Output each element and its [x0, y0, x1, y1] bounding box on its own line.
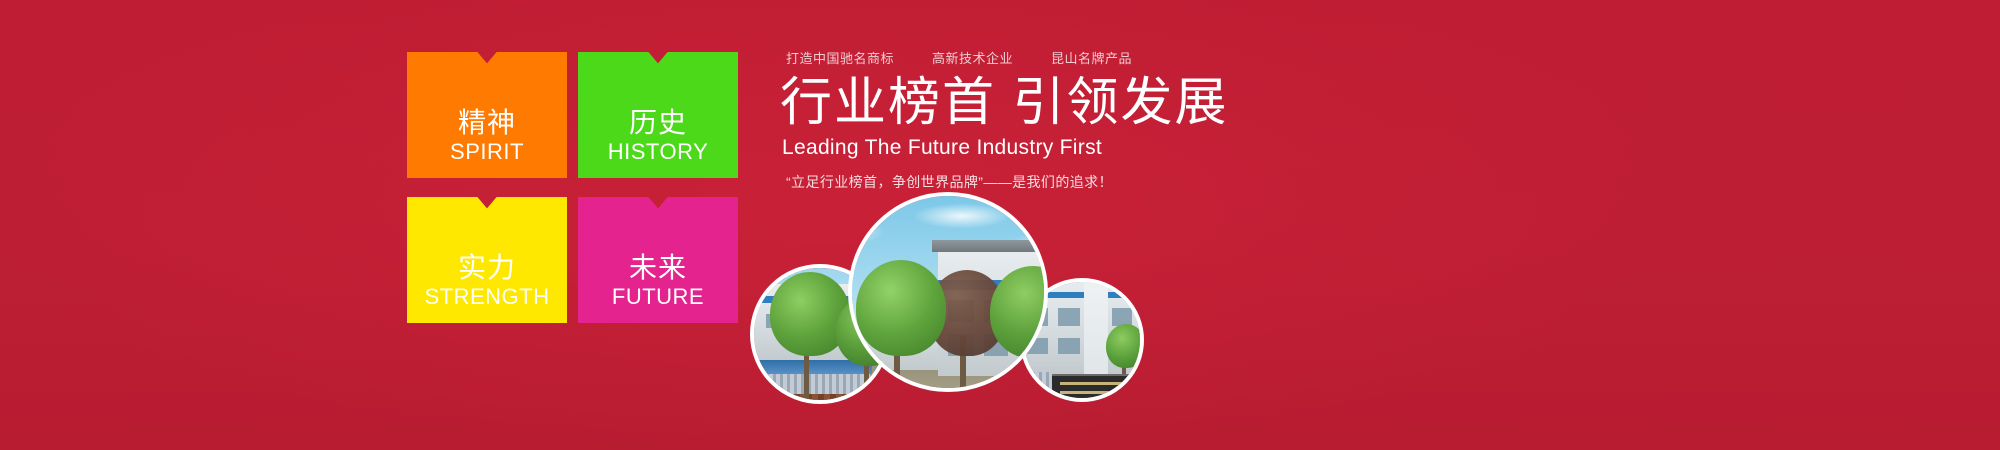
cloud-photo-collage: [748, 192, 1168, 450]
tile-history[interactable]: 历史 HISTORY: [578, 52, 738, 178]
tile-spirit-cn: 精神: [458, 107, 516, 138]
tile-history-cn: 历史: [629, 107, 687, 138]
tagline-quote: “立足行业榜首，争创世界品牌”——是我们的追求！: [780, 172, 1200, 192]
promo-banner: 精神 SPIRIT 历史 HISTORY 实力 STRENGTH 未来 FUTU…: [0, 0, 2000, 450]
tile-spirit[interactable]: 精神 SPIRIT: [407, 52, 567, 178]
tile-strength-en: STRENGTH: [425, 284, 550, 309]
collage-lobe-center: [848, 192, 1048, 392]
credential-item-2: 高新技术企业: [932, 48, 1013, 67]
headline-block: 打造中国驰名商标 高新技术企业 昆山名牌产品 行业榜首 引领发展 Leading…: [780, 48, 1200, 192]
factory-photo-center: [848, 196, 1048, 392]
tile-strength[interactable]: 实力 STRENGTH: [407, 197, 567, 323]
credential-item-1: 打造中国驰名商标: [786, 48, 894, 67]
tile-future-cn: 未来: [629, 252, 687, 283]
tile-history-en: HISTORY: [608, 139, 709, 164]
tile-strength-cn: 实力: [458, 252, 516, 283]
credential-item-3: 昆山名牌产品: [1051, 48, 1132, 67]
tile-spirit-en: SPIRIT: [450, 139, 524, 164]
tile-future-en: FUTURE: [612, 284, 704, 309]
tile-future[interactable]: 未来 FUTURE: [578, 197, 738, 323]
credential-row: 打造中国驰名商标 高新技术企业 昆山名牌产品: [780, 48, 1200, 67]
main-headline: 行业榜首 引领发展: [780, 73, 1200, 134]
sub-headline-english: Leading The Future Industry First: [780, 136, 1200, 160]
